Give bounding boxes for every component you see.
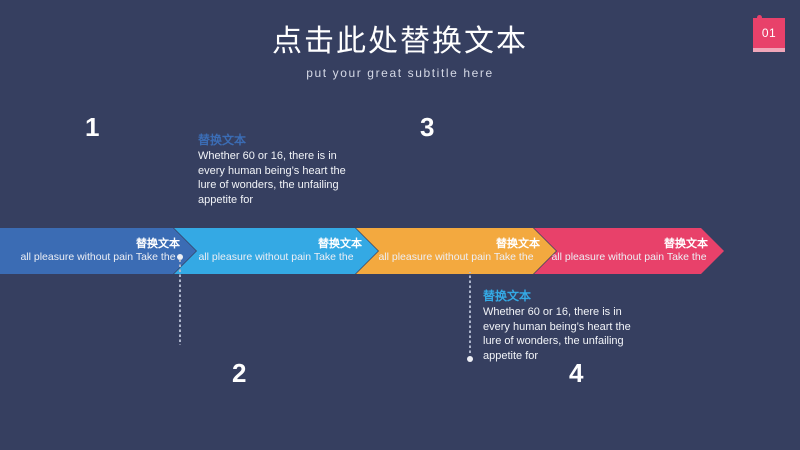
callout-1-connector-line [179, 259, 181, 345]
arrow-segment-3-body: all pleasure without pain Take the [356, 251, 556, 264]
callout-1-number: 1 [85, 114, 99, 140]
callout-4-number: 4 [569, 360, 583, 386]
callout-2-number: 2 [232, 360, 246, 386]
arrow-segment-4[interactable]: 替换文本 all pleasure without pain Take the [534, 228, 724, 274]
arrow-segment-4-body: all pleasure without pain Take the [534, 251, 724, 264]
page-subtitle: put your great subtitle here [0, 66, 800, 80]
callout-2-connector-dot [467, 356, 473, 362]
callout-3-number: 3 [420, 114, 434, 140]
callout-2-connector-line [469, 272, 471, 354]
callout-2-heading: 替换文本 [483, 288, 643, 304]
page-title: 点击此处替换文本 [0, 22, 800, 62]
arrow-segment-3[interactable]: 替换文本 all pleasure without pain Take the [356, 228, 556, 274]
callout-2-text: 替换文本 Whether 60 or 16, there is in every… [483, 288, 643, 363]
header: 点击此处替换文本 put your great subtitle here [0, 22, 800, 80]
arrow-segment-2-body: all pleasure without pain Take the [174, 251, 378, 264]
callout-1-heading: 替换文本 [198, 132, 358, 148]
arrow-segment-3-title: 替换文本 [356, 238, 556, 251]
arrow-segment-1-title: 替换文本 [0, 238, 196, 251]
callout-2-body: Whether 60 or 16, there is in every huma… [483, 305, 643, 363]
arrow-segment-1-body: all pleasure without pain Take the [0, 251, 196, 264]
callout-1-text: 替换文本 Whether 60 or 16, there is in every… [198, 132, 358, 207]
arrow-bar: 替换文本 all pleasure without pain Take the … [0, 228, 800, 274]
arrow-segment-1[interactable]: 替换文本 all pleasure without pain Take the [0, 228, 196, 274]
arrow-segment-2-title: 替换文本 [174, 238, 378, 251]
arrow-segment-4-title: 替换文本 [534, 238, 724, 251]
callout-1-body: Whether 60 or 16, there is in every huma… [198, 149, 358, 207]
arrow-segment-2[interactable]: 替换文本 all pleasure without pain Take the [174, 228, 378, 274]
